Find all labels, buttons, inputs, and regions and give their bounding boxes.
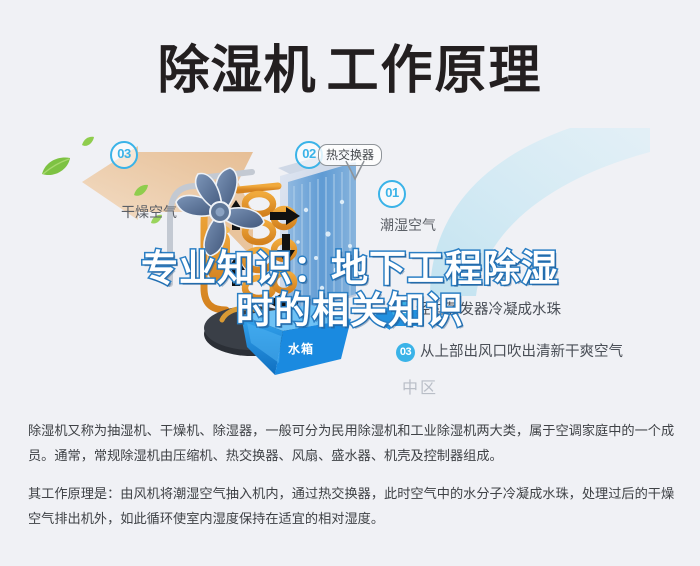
humid-air-swoosh-icon (420, 126, 650, 306)
article-body: 除湿机又称为抽湿机、干燥机、除湿器，一般可分为民用除湿机和工业除湿机两大类，属于… (28, 418, 676, 531)
ghost-watermark-text: 中区 (402, 374, 438, 398)
fan-icon (168, 160, 272, 264)
page-title-part2: 工作原理 (327, 42, 543, 100)
leaf-icon (40, 156, 72, 183)
leaf-icon (133, 184, 149, 203)
label-dry-air: 干燥空气 (121, 202, 177, 222)
step-line-02-text: 经过蒸发器冷凝成水珠 (416, 302, 561, 318)
article-paragraph-2: 其工作原理是：由风机将潮湿空气抽入机内，通过热交换器，此时空气中的水分子冷凝成水… (28, 481, 676, 531)
leaf-icon (81, 135, 95, 153)
callout-tail-icon (344, 161, 366, 186)
badge-03-small: 03 (396, 343, 415, 362)
page-title: 除湿机工作原理 (0, 28, 700, 103)
step-line-02: 02经过蒸发器冷凝成水珠 (392, 298, 561, 320)
badge-03-dry-air: 03 (110, 141, 138, 169)
badge-01-humid-air: 01 (378, 180, 406, 208)
water-tank-label: 水箱 (288, 340, 314, 357)
label-humid-air: 潮湿空气 (380, 215, 436, 235)
callout-heat-exchanger: 热交换器 (318, 144, 382, 166)
page-title-part1: 除湿机 (157, 42, 316, 100)
dehumidifier-diagram: 水箱 03 干燥空气 02 热交换器 01 潮湿空气 中区 02经过蒸发器冷凝成… (0, 118, 700, 410)
step-line-03-text: 从上部出风口吹出清新干爽空气 (420, 344, 623, 360)
article-paragraph-1: 除湿机又称为抽湿机、干燥机、除湿器，一般可分为民用除湿机和工业除湿机两大类，属于… (28, 418, 676, 468)
badge-02-small: 02 (392, 301, 411, 320)
step-line-03: 03从上部出风口吹出清新干爽空气 (396, 340, 623, 362)
